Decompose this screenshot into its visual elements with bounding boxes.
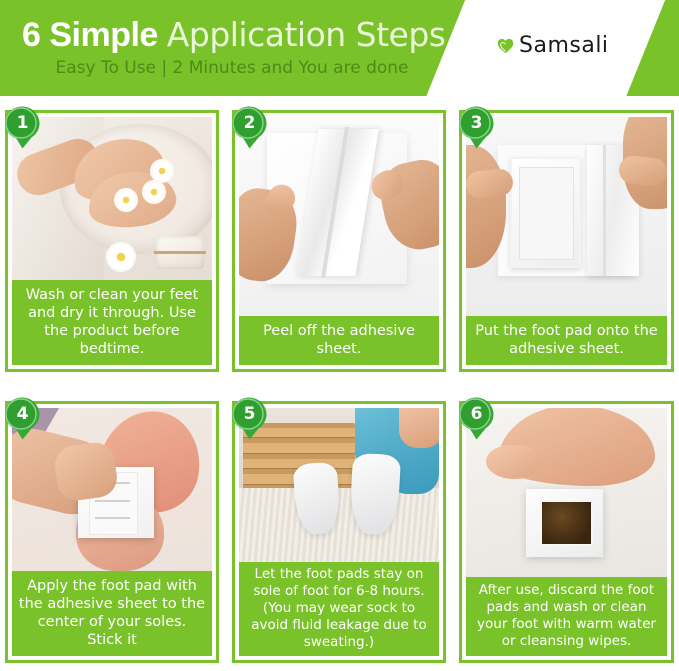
- step-card-3[interactable]: Put the foot pad onto the adhesive sheet…: [459, 110, 674, 372]
- step-6-photo: [466, 408, 667, 577]
- step-3-caption: Put the foot pad onto the adhesive sheet…: [466, 316, 667, 365]
- step-card-5[interactable]: Let the foot pads stay on sole of foot f…: [232, 401, 446, 663]
- steps-grid: Wash or clean your feet and dry it throu…: [0, 96, 679, 671]
- step-1-photo: [12, 117, 212, 280]
- step-card-2[interactable]: Peel off the adhesive sheet. 2: [232, 110, 446, 372]
- step-2-photo: [239, 117, 439, 316]
- step-5-photo: [239, 408, 439, 562]
- step-6-caption: After use, discard the foot pads and was…: [466, 577, 667, 656]
- step-1-caption: Wash or clean your feet and dry it throu…: [12, 280, 212, 365]
- page-title-bold: 6 Simple: [22, 16, 158, 54]
- step-card-1-inner: Wash or clean your feet and dry it throu…: [12, 117, 212, 365]
- step-2-caption: Peel off the adhesive sheet.: [239, 316, 439, 365]
- step-5-caption: Let the foot pads stay on sole of foot f…: [239, 562, 439, 656]
- step-card-4[interactable]: Apply the foot pad with the adhesive she…: [5, 401, 219, 663]
- step-4-photo: [12, 408, 212, 571]
- step-4-caption: Apply the foot pad with the adhesive she…: [12, 571, 212, 656]
- step-card-6-inner: After use, discard the foot pads and was…: [466, 408, 667, 656]
- page-subtitle: Easy To Use | 2 Minutes and You are done: [22, 58, 442, 79]
- heart-icon: [497, 38, 514, 54]
- page-title-light: Application Steps: [167, 15, 446, 54]
- header-banner: 6 Simple Application Steps Easy To Use |…: [0, 0, 679, 96]
- step-card-3-inner: Put the foot pad onto the adhesive sheet…: [466, 117, 667, 365]
- step-card-1[interactable]: Wash or clean your feet and dry it throu…: [5, 110, 219, 372]
- step-card-2-inner: Peel off the adhesive sheet.: [239, 117, 439, 365]
- step-card-6[interactable]: After use, discard the foot pads and was…: [459, 401, 674, 663]
- brand-logo: Samsali: [497, 33, 609, 58]
- step-3-photo: [466, 117, 667, 316]
- brand-name: Samsali: [519, 33, 609, 58]
- step-card-4-inner: Apply the foot pad with the adhesive she…: [12, 408, 212, 656]
- page-title: 6 Simple Application Steps: [22, 16, 446, 54]
- step-card-5-inner: Let the foot pads stay on sole of foot f…: [239, 408, 439, 656]
- header-text-block: 6 Simple Application Steps Easy To Use |…: [0, 0, 470, 96]
